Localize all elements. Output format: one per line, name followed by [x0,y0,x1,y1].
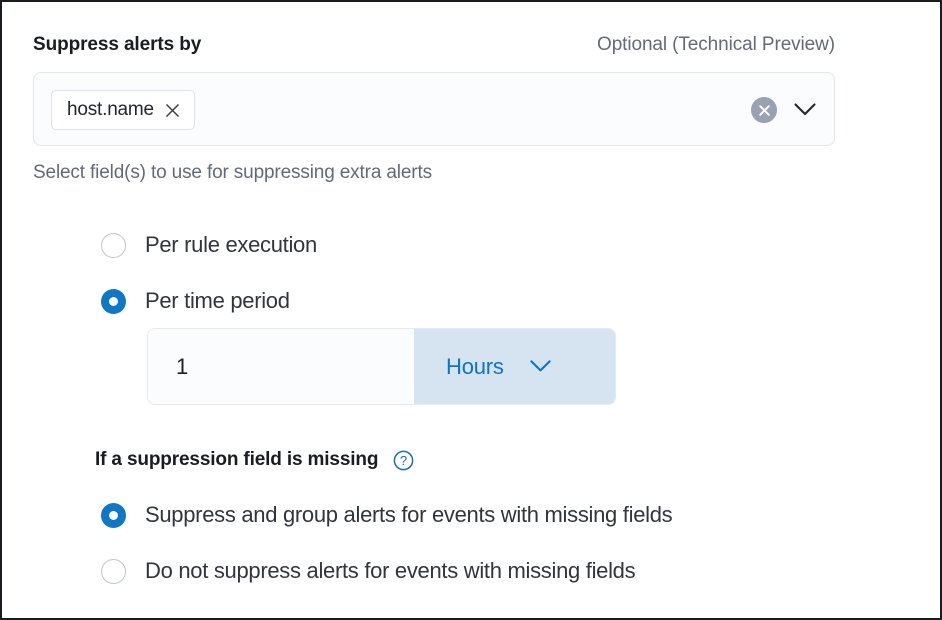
optional-note: Optional (Technical Preview) [597,34,835,56]
duration-unit-select[interactable]: Hours [414,329,615,404]
close-x-icon[interactable] [165,103,180,118]
radio-indicator-off[interactable] [101,559,126,584]
duration-unit-label: Hours [446,354,504,380]
radio-do-not-suppress-missing-fields[interactable]: Do not suppress alerts for events with m… [101,558,635,584]
chevron-down-icon [530,356,552,378]
chevron-down-icon[interactable] [793,98,817,122]
radio-label: Per time period [145,288,290,314]
radio-indicator-on[interactable] [101,289,126,314]
question-circle-icon[interactable]: ? [393,450,414,471]
combobox-actions [751,73,817,147]
duration-control: Hours [148,329,615,404]
suppress-alerts-panel: Suppress alerts by Optional (Technical P… [0,0,942,620]
radio-indicator-off[interactable] [101,233,126,258]
missing-field-title: If a suppression field is missing [95,449,378,471]
missing-field-header: If a suppression field is missing ? [95,449,414,471]
selected-field-label: host.name [67,99,154,121]
selected-field-pill[interactable]: host.name [51,90,195,130]
svg-text:?: ? [400,453,407,468]
radio-per-time-period[interactable]: Per time period [101,288,290,314]
radio-per-rule-execution[interactable]: Per rule execution [101,232,317,258]
clear-circle-x-icon[interactable] [751,97,777,123]
duration-value-input[interactable] [148,329,414,404]
helper-text: Select field(s) to use for suppressing e… [33,162,432,184]
suppress-by-combobox[interactable]: host.name [33,72,835,146]
page-title: Suppress alerts by [33,34,201,56]
radio-suppress-missing-fields[interactable]: Suppress and group alerts for events wit… [101,502,672,528]
radio-label: Per rule execution [145,232,317,258]
radio-label: Do not suppress alerts for events with m… [145,558,635,584]
radio-indicator-on[interactable] [101,503,126,528]
radio-label: Suppress and group alerts for events wit… [145,502,672,528]
field-header: Suppress alerts by Optional (Technical P… [33,30,835,60]
